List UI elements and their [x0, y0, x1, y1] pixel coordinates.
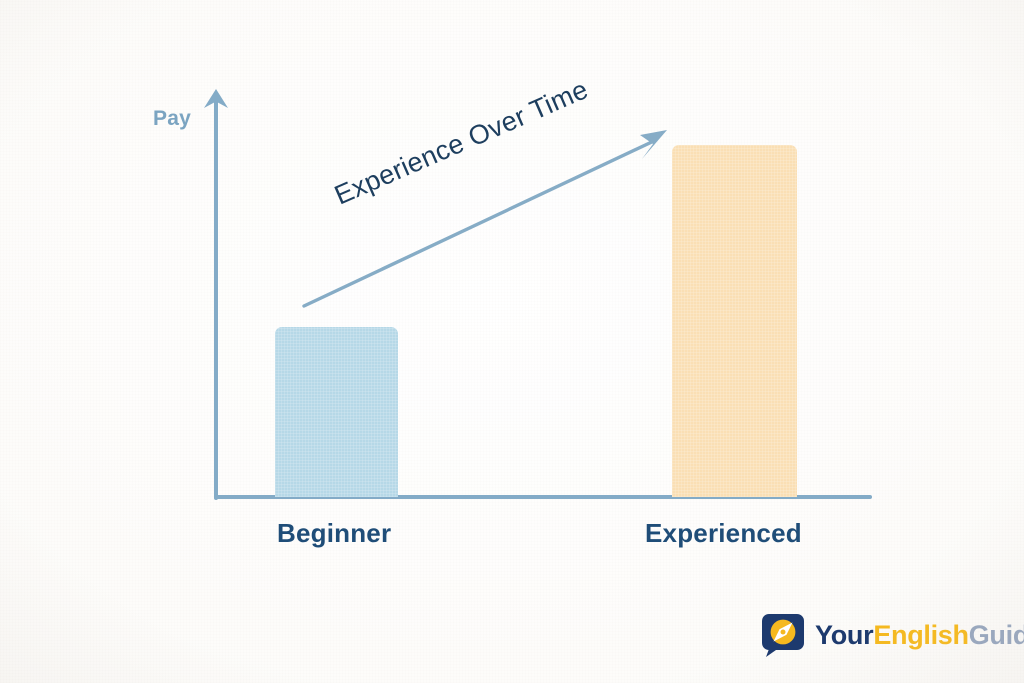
y-axis-label: Pay [153, 107, 191, 131]
category-label-beginner: Beginner [277, 518, 391, 549]
chart-canvas: Pay Beginner Experienced Experience Over… [0, 0, 1024, 683]
logo-word-your: Your [815, 620, 873, 650]
compass-speech-bubble-icon [760, 612, 806, 658]
bar-beginner [275, 327, 398, 497]
y-axis-line [214, 100, 218, 500]
y-axis-arrowhead-icon [203, 88, 229, 110]
brand-logo[interactable]: YourEnglishGuide [760, 612, 1024, 658]
category-label-experienced: Experienced [645, 518, 802, 549]
bar-texture [672, 145, 797, 497]
logo-word-english: English [873, 620, 968, 650]
logo-word-guide: Guide [969, 620, 1024, 650]
brand-logo-text: YourEnglishGuide [815, 622, 1024, 649]
bar-texture [275, 327, 398, 497]
trend-annotation-label: Experience Over Time [330, 74, 593, 211]
bar-experienced [672, 145, 797, 497]
